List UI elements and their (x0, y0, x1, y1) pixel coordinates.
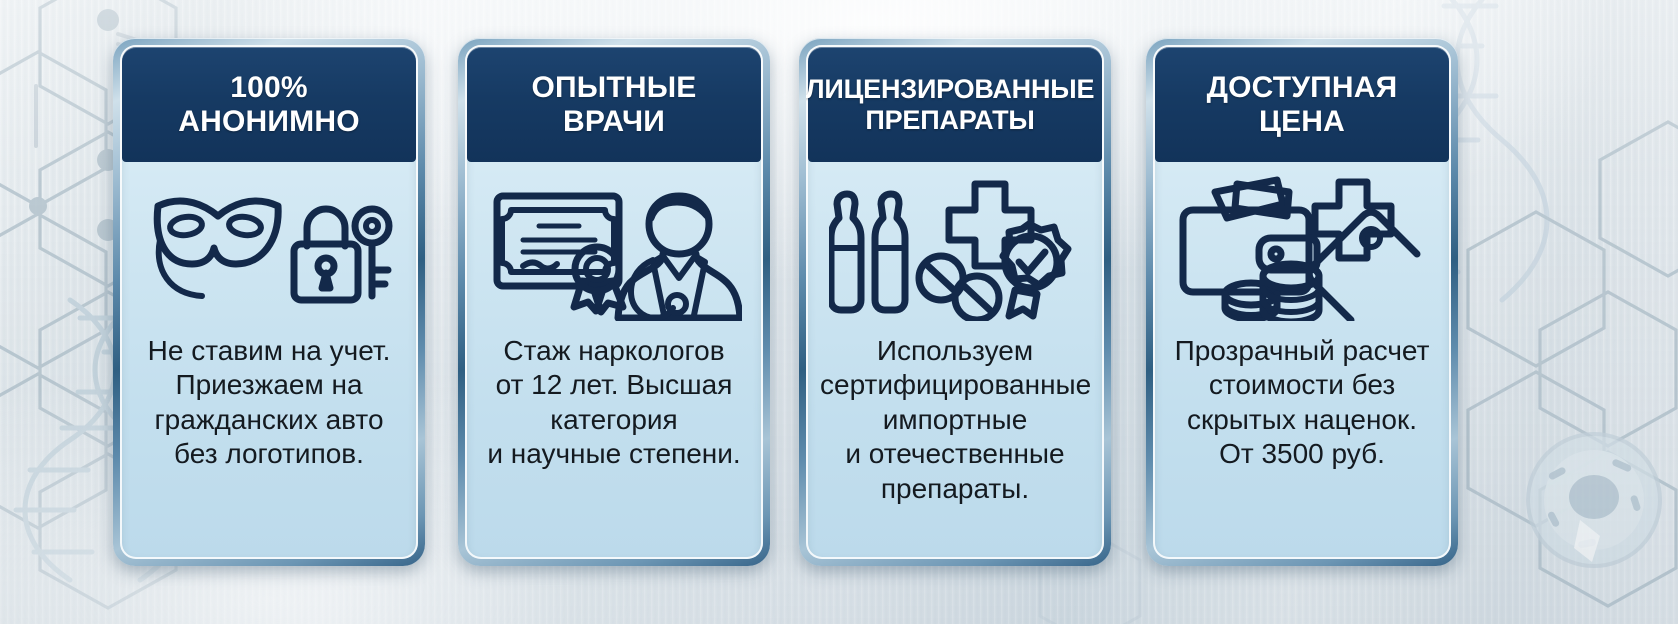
card-header: ОПЫТНЫЕ ВРАЧИ (467, 47, 761, 162)
feature-cards: 100% АНОНИМНО (0, 0, 1678, 624)
award-ribbon-icon (574, 247, 623, 312)
card-header: ЛИЦЕНЗИРОВАННЫЕ ПРЕПАРАТЫ (808, 47, 1102, 162)
card-inner: ДОСТУПНАЯ ЦЕНА (1153, 45, 1451, 559)
medical-cross-icon (949, 184, 1031, 266)
banner-stage: 100% АНОНИМНО (0, 0, 1678, 624)
card-body-text: Стаж наркологов от 12 лет. Высшая катего… (465, 328, 763, 472)
card-icon-group (1153, 162, 1451, 328)
price-tag-icon (1309, 212, 1417, 320)
carnival-mask-icon (157, 201, 278, 296)
card-header: 100% АНОНИМНО (122, 47, 416, 162)
wallet-icon (1183, 180, 1317, 292)
padlock-icon (294, 209, 358, 300)
card-body-text: Не ставим на учет. Приезжаем на гражданс… (120, 328, 418, 472)
card-icon-group (465, 162, 763, 328)
card-title: 100% АНОНИМНО (178, 71, 359, 139)
card-anonymity[interactable]: 100% АНОНИМНО (113, 38, 425, 566)
card-icon-group (806, 162, 1104, 328)
card-header: ДОСТУПНАЯ ЦЕНА (1155, 47, 1449, 162)
card-title: ОПЫТНЫЕ ВРАЧИ (531, 71, 696, 139)
card-icon-group (120, 162, 418, 328)
card-title: ДОСТУПНАЯ ЦЕНА (1207, 71, 1398, 139)
card-experienced-doctors[interactable]: ОПЫТНЫЕ ВРАЧИ (458, 38, 770, 566)
quality-badge-icon (1003, 224, 1068, 316)
ampoule-icon (875, 194, 905, 310)
ampoule-icon (831, 194, 861, 310)
card-inner: 100% АНОНИМНО (120, 45, 418, 559)
card-inner: ОПЫТНЫЕ ВРАЧИ (465, 45, 763, 559)
card-body-text: Прозрачный расчет стоимости без скрытых … (1153, 328, 1451, 472)
card-inner: ЛИЦЕНЗИРОВАННЫЕ ПРЕПАРАТЫ (806, 45, 1104, 559)
doctor-icon (618, 196, 740, 320)
card-affordable-price[interactable]: ДОСТУПНАЯ ЦЕНА (1146, 38, 1458, 566)
card-body-text: Используем сертифицированные импортные и… (806, 328, 1104, 506)
card-licensed-medications[interactable]: ЛИЦЕНЗИРОВАННЫЕ ПРЕПАРАТЫ (799, 38, 1111, 566)
certificate-icon (497, 196, 619, 286)
card-title: ЛИЦЕНЗИРОВАННЫЕ ПРЕПАРАТЫ (806, 74, 1102, 135)
